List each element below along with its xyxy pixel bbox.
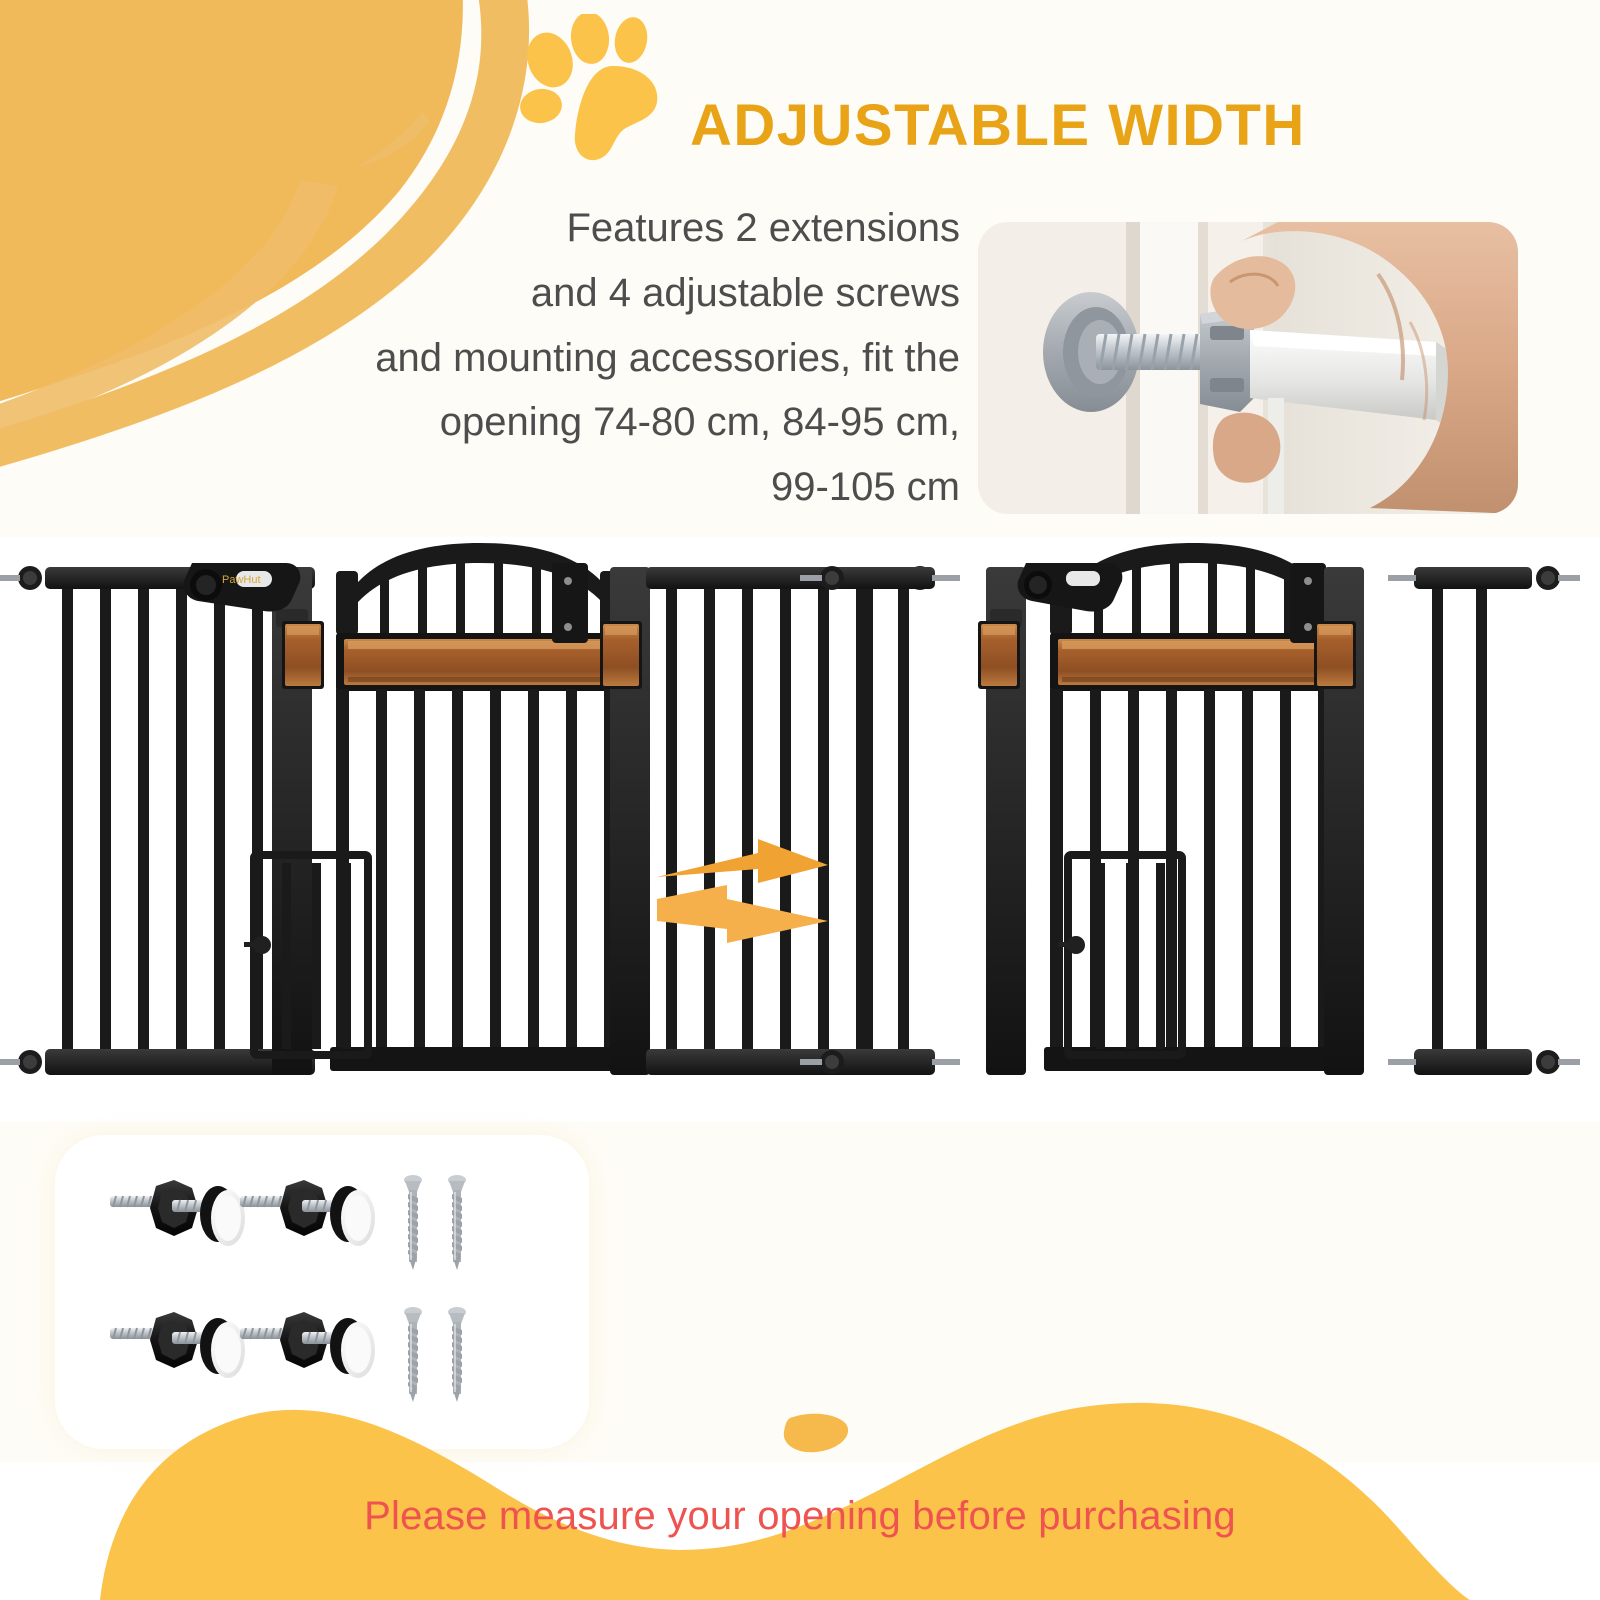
svg-text:PawHut: PawHut: [222, 574, 261, 586]
footer-leaf-accent: [784, 1414, 848, 1453]
infographic-canvas: ADJUSTABLE WIDTH Features 2 extensions a…: [0, 0, 1600, 1600]
extension-panel-right: [1388, 566, 1580, 1075]
body-line-5: 99-105 cm: [60, 455, 960, 520]
paw-print-icon: [505, 14, 665, 164]
pressure-screw-photo: [978, 222, 1518, 514]
wide-gate-door: PawHut: [184, 543, 626, 1071]
body-line-4: opening 74-80 cm, 84-95 cm,: [60, 390, 960, 455]
narrow-gate-left-post: [978, 567, 1026, 1075]
gate-latch-handle: PawHut: [184, 563, 301, 612]
body-line-3: and mounting accessories, fit the: [60, 326, 960, 391]
wood-mounting-screw: [404, 1175, 422, 1270]
narrow-gate-door: [1018, 543, 1340, 1071]
header-body-text: Features 2 extensions and 4 adjustable s…: [60, 196, 960, 520]
adjustable-thumb-screw: [110, 1180, 245, 1246]
adjustable-thumb-screw: [240, 1180, 375, 1246]
arrow-pointing-right: [657, 885, 828, 943]
narrow-gate-assembly: [800, 543, 1580, 1075]
gate-hinge: [552, 563, 588, 643]
width-change-arrows: [655, 825, 830, 945]
arrow-pointing-left: [657, 839, 828, 883]
narrow-gate-pet-door: [1058, 855, 1182, 1055]
body-line-2: and 4 adjustable screws: [60, 261, 960, 326]
wide-gate-left-extension: [0, 566, 315, 1075]
footer-wave-decoration: [0, 1380, 1600, 1600]
narrow-gate-latch-handle: [1018, 563, 1123, 612]
wide-gate-assembly: PawHut: [0, 543, 952, 1075]
adjustable-thumb-screw: [110, 1312, 245, 1378]
body-line-1: Features 2 extensions: [60, 196, 960, 261]
footer-note: Please measure your opening before purch…: [0, 1494, 1600, 1539]
page-title: ADJUSTABLE WIDTH: [690, 96, 1550, 157]
adjustable-thumb-screw: [240, 1312, 375, 1378]
wood-mounting-screw: [448, 1175, 466, 1270]
header-section: ADJUSTABLE WIDTH Features 2 extensions a…: [0, 0, 1600, 537]
pressure-screw-illustration: [978, 222, 1518, 514]
